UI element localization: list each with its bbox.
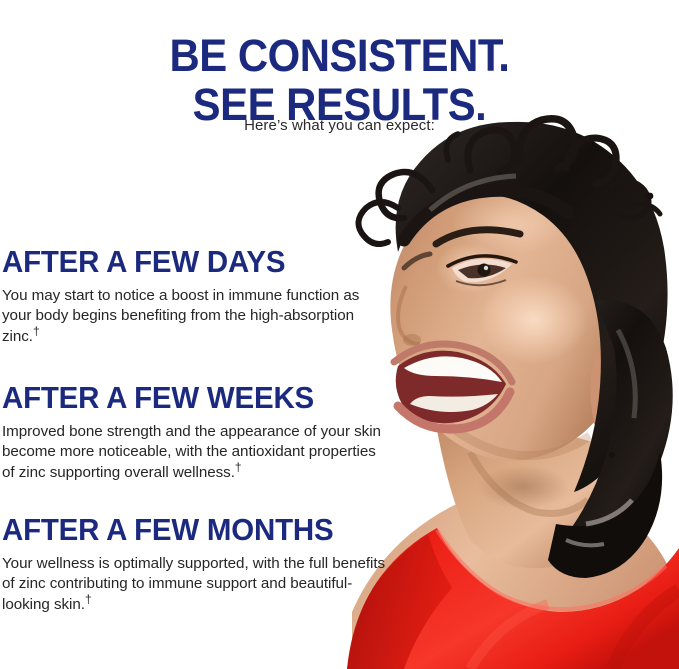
section-heading: AFTER A FEW MONTHS <box>2 513 374 547</box>
section-body-text: Your wellness is optimally supported, wi… <box>2 555 385 613</box>
section-body: You may start to notice a boost in immun… <box>2 286 387 347</box>
section-body-text: Improved bone strength and the appearanc… <box>2 423 381 481</box>
section-after-a-few-weeks: AFTER A FEW WEEKS Improved bone strength… <box>2 381 394 483</box>
page-title: BE CONSISTENT. SEE RESULTS. <box>24 30 655 128</box>
text-content: BE CONSISTENT. SEE RESULTS. Here’s what … <box>0 0 679 669</box>
infographic-page: BE CONSISTENT. SEE RESULTS. Here’s what … <box>0 0 679 669</box>
section-body: Improved bone strength and the appearanc… <box>2 422 387 483</box>
footnote-dagger: † <box>33 324 40 338</box>
subheadline: Here’s what you can expect: <box>0 116 679 135</box>
section-body: Your wellness is optimally supported, wi… <box>2 554 387 615</box>
footnote-dagger: † <box>85 592 92 606</box>
footnote-dagger: † <box>235 460 242 474</box>
section-body-text: You may start to notice a boost in immun… <box>2 287 359 345</box>
section-heading: AFTER A FEW DAYS <box>2 245 374 279</box>
section-after-a-few-days: AFTER A FEW DAYS You may start to notice… <box>2 245 394 347</box>
section-after-a-few-months: AFTER A FEW MONTHS Your wellness is opti… <box>2 513 394 615</box>
headline-line-1: BE CONSISTENT. <box>24 30 655 79</box>
section-heading: AFTER A FEW WEEKS <box>2 381 374 415</box>
